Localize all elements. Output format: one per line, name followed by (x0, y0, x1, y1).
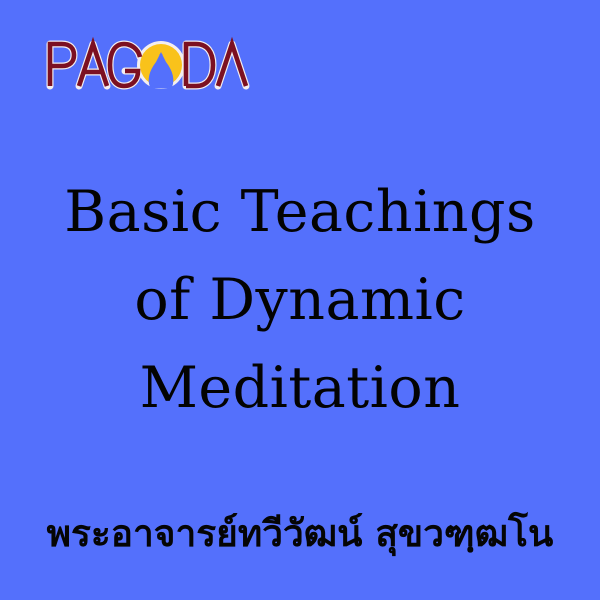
pagoda-logo (46, 40, 246, 90)
pagoda-logo-artwork (46, 40, 246, 90)
title-line-1: Basic Teachings (0, 168, 600, 256)
logo-dome-center-stem (160, 54, 163, 86)
title-line-3: Meditation (0, 344, 600, 432)
title-line-2: of Dynamic (0, 256, 600, 344)
poster-title: Basic Teachings of Dynamic Meditation (0, 168, 600, 432)
author-name-thai: พระอาจารย์ทวีวัฒน์ สุขวฑฺฒโน (0, 504, 600, 563)
poster-canvas: Basic Teachings of Dynamic Meditation พร… (0, 0, 600, 600)
